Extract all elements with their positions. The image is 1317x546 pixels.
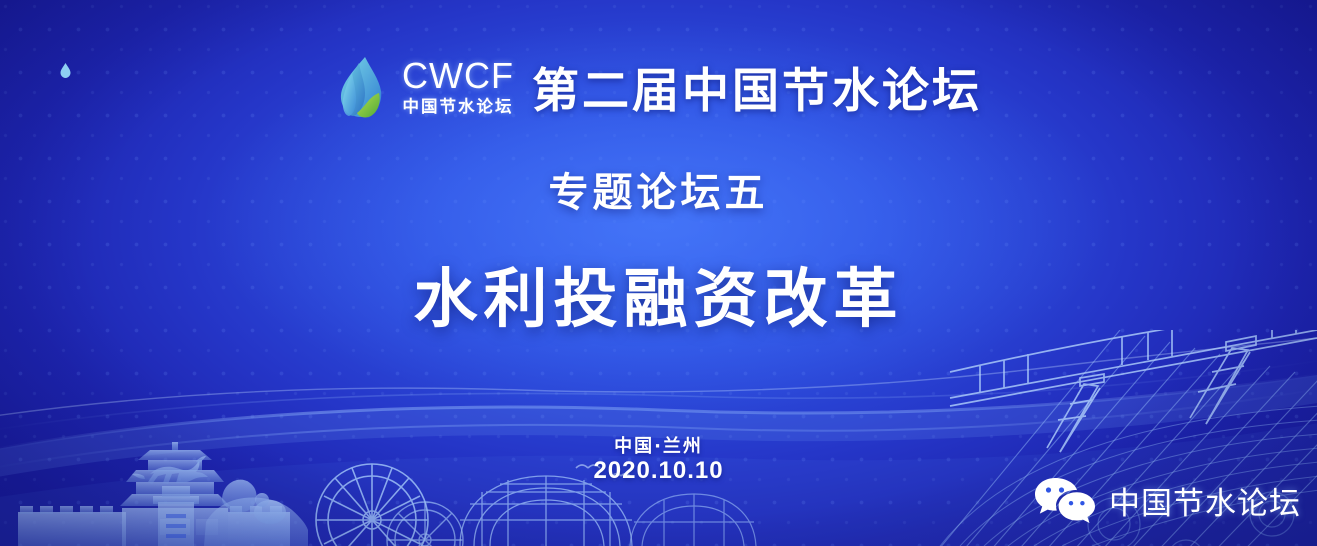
stadium-annex bbox=[630, 494, 756, 546]
flying-horse-monument-final bbox=[152, 516, 198, 546]
wechat-account-name: 中国节水论坛 bbox=[1109, 478, 1301, 523]
horse-statue-group bbox=[158, 498, 194, 546]
flying-horse-statue bbox=[152, 500, 190, 546]
highlight-streak bbox=[0, 336, 1317, 418]
horse-monument bbox=[152, 512, 194, 546]
city-wall bbox=[18, 506, 126, 546]
ferris-wheel-center bbox=[387, 502, 463, 546]
water-drop-icon bbox=[60, 63, 71, 78]
bronze-flying-horse bbox=[156, 514, 196, 546]
lanzhou-flying-horse bbox=[157, 504, 195, 546]
flying-horse-pedestal-group bbox=[157, 512, 197, 546]
water-drop-leaf-logo-icon bbox=[335, 53, 393, 121]
event-location: 中国·兰州 bbox=[0, 432, 1317, 458]
session-subtitle: 专题论坛五 bbox=[0, 160, 1317, 218]
dome-stadium bbox=[460, 476, 632, 546]
poster-canvas: CWCF 中国节水论坛 第二届中国节水论坛 专题论坛五 水利投融资改革 中国·兰… bbox=[0, 0, 1317, 546]
wechat-icon bbox=[1034, 476, 1096, 524]
wechat-account-badge: 中国节水论坛 bbox=[1034, 476, 1301, 524]
logo-chinese-name: 中国节水论坛 bbox=[403, 99, 514, 116]
city-wall-right bbox=[228, 506, 290, 546]
logo-acronym: CWCF bbox=[402, 58, 514, 94]
logo-wordmark: CWCF 中国节水论坛 bbox=[402, 58, 514, 116]
galloping-horse-monument bbox=[159, 505, 199, 546]
mother-river-sculpture bbox=[204, 480, 308, 546]
session-theme-title: 水利投融资改革 bbox=[0, 248, 1317, 340]
flying-horse-on-pillar bbox=[160, 508, 198, 546]
poster-header: CWCF 中国节水论坛 第二届中国节水论坛 bbox=[0, 52, 1317, 121]
cwcf-logo: CWCF 中国节水论坛 bbox=[335, 53, 514, 121]
flying-horse-statue bbox=[152, 520, 212, 546]
flying-horse-sculpture bbox=[156, 520, 198, 546]
forum-title: 第二届中国节水论坛 bbox=[532, 52, 982, 121]
